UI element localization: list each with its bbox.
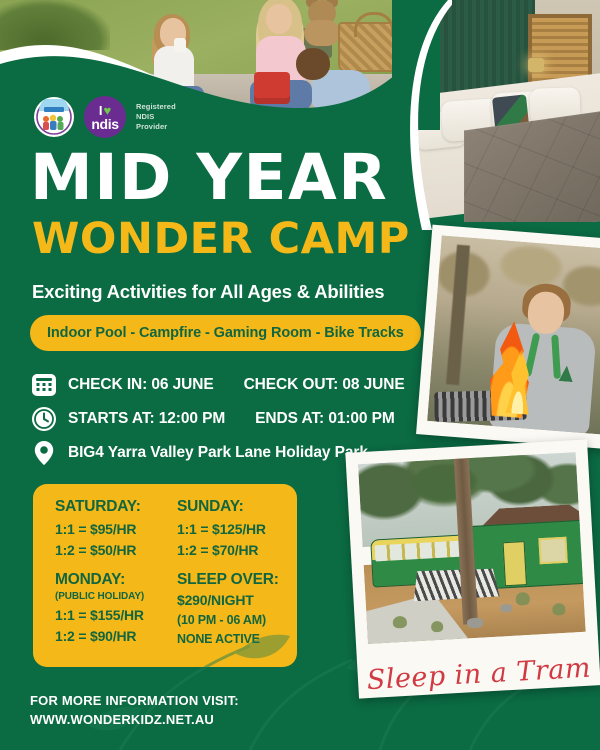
bush-shape xyxy=(0,0,110,50)
detail-row-times: STARTS AT: 12:00 PM ENDS AT: 01:00 PM xyxy=(30,405,395,432)
pricing-card: SATURDAY: 1:1 = $95/HR 1:2 = $50/HR SUND… xyxy=(33,484,297,667)
detail-row-dates: CHECK IN: 06 JUNE CHECK OUT: 08 JUNE xyxy=(30,371,405,398)
check-out-text: CHECK OUT: 08 JUNE xyxy=(244,376,405,394)
tagline: Exciting Activities for All Ages & Abili… xyxy=(32,281,384,303)
tram-polaroid: Sleep in a Tram xyxy=(345,439,600,698)
saturday-rate-1-2: 1:2 = $50/HR xyxy=(55,542,173,558)
ndis-badge: I ♥ ndis xyxy=(84,96,126,138)
tram-caption: Sleep in a Tram xyxy=(357,652,600,696)
calendar-icon xyxy=(30,371,57,398)
logo-row: I ♥ ndis Registered NDIS Provider xyxy=(34,96,176,138)
campfire-photo xyxy=(427,235,600,434)
girl-drinking xyxy=(150,18,204,108)
org-logo xyxy=(34,97,74,137)
pricing-sunday: SUNDAY: 1:1 = $125/HR 1:2 = $70/HR xyxy=(177,498,305,558)
saturday-rate-1-1: 1:1 = $95/HR xyxy=(55,521,173,537)
clock-icon xyxy=(30,405,57,432)
activities-pill: Indoor Pool - Campfire - Gaming Room - B… xyxy=(30,315,421,351)
org-logo-icon xyxy=(36,99,72,135)
ndis-heart-row: I ♥ xyxy=(99,104,111,117)
footer-contact: FOR MORE INFORMATION VISIT: WWW.WONDERKI… xyxy=(30,692,239,730)
sleepover-price: $290/NIGHT xyxy=(177,592,305,608)
heart-icon: ♥ xyxy=(103,104,111,117)
flyer-poster: I ♥ ndis Registered NDIS Provider MID YE… xyxy=(0,0,600,750)
ndis-registered-text: Registered NDIS Provider xyxy=(136,102,176,132)
sleepover-heading: SLEEP OVER: xyxy=(177,571,305,589)
monday-rate-1-2: 1:2 = $90/HR xyxy=(55,628,173,644)
ndis-i-letter: I xyxy=(99,104,103,117)
pricing-row-2: MONDAY: (PUBLIC HOLIDAY) 1:1 = $155/HR 1… xyxy=(33,571,297,646)
detail-row-venue: BIG4 Yarra Valley Park Lane Holiday Park xyxy=(30,439,368,466)
pricing-monday: MONDAY: (PUBLIC HOLIDAY) 1:1 = $155/HR 1… xyxy=(55,571,173,646)
sunday-heading: SUNDAY: xyxy=(177,498,305,516)
boy-crouching xyxy=(296,48,370,108)
footer-line-1: FOR MORE INFORMATION VISIT: xyxy=(30,692,239,711)
ndis-reg-line-1: Registered xyxy=(136,102,176,112)
bedroom-arc-mask xyxy=(392,0,452,230)
end-time-text: ENDS AT: 01:00 PM xyxy=(255,410,395,428)
wall-lamp xyxy=(528,58,544,72)
campfire-polaroid xyxy=(416,225,600,450)
location-pin-icon xyxy=(30,439,57,466)
monday-note: (PUBLIC HOLIDAY) xyxy=(55,591,173,602)
red-cooler xyxy=(254,72,290,104)
sunday-rate-1-2: 1:2 = $70/HR xyxy=(177,542,305,558)
sleepover-hours: (10 PM - 06 AM) xyxy=(177,613,305,627)
ndis-reg-line-2: NDIS xyxy=(136,112,176,122)
picnic-photo xyxy=(0,0,440,108)
footer-line-2[interactable]: WWW.WONDERKIDZ.NET.AU xyxy=(30,711,239,730)
check-in-text: CHECK IN: 06 JUNE xyxy=(68,376,214,394)
venue-text: BIG4 Yarra Valley Park Lane Holiday Park xyxy=(68,444,368,462)
headline-secondary: WONDER CAMP xyxy=(32,218,410,261)
pricing-sleepover: SLEEP OVER: $290/NIGHT (10 PM - 06 AM) N… xyxy=(177,571,305,646)
monday-rate-1-1: 1:1 = $155/HR xyxy=(55,607,173,623)
start-time-text: STARTS AT: 12:00 PM xyxy=(68,410,225,428)
saturday-heading: SATURDAY: xyxy=(55,498,173,516)
pricing-saturday: SATURDAY: 1:1 = $95/HR 1:2 = $50/HR xyxy=(55,498,173,558)
pricing-row-1: SATURDAY: 1:1 = $95/HR 1:2 = $50/HR SUND… xyxy=(33,498,297,558)
sleepover-status: NONE ACTIVE xyxy=(177,632,305,646)
sunday-rate-1-1: 1:1 = $125/HR xyxy=(177,521,305,537)
monday-heading: MONDAY: xyxy=(55,571,173,589)
ndis-wordmark: ndis xyxy=(91,117,118,131)
ndis-reg-line-3: Provider xyxy=(136,122,176,132)
headline-primary: MID YEAR xyxy=(30,148,388,208)
tram-photo xyxy=(358,452,586,644)
